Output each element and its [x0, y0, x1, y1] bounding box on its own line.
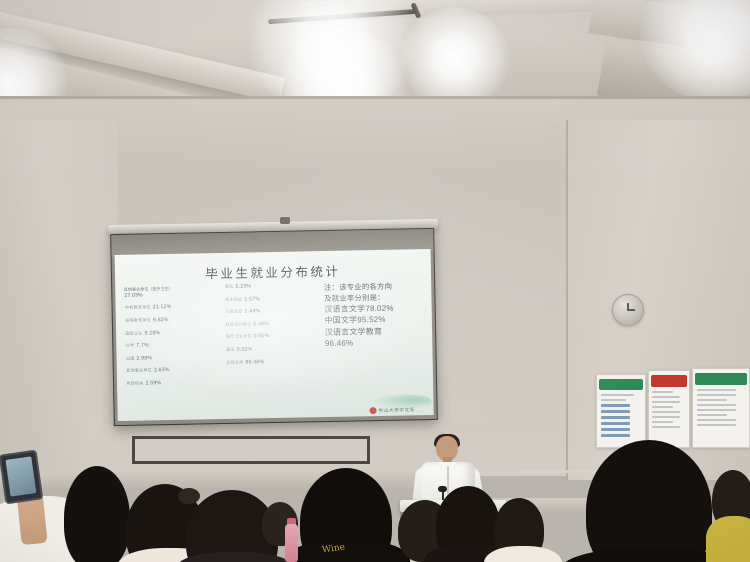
bullet-dot: ·	[122, 306, 123, 310]
poster-green-left	[596, 374, 646, 448]
bullet-dot: ·	[222, 335, 223, 339]
list-item: · 出国 2.98%	[123, 355, 223, 362]
list-item: · 军队 2.23%	[221, 283, 321, 290]
wall-corner-seam	[566, 120, 568, 480]
list-item: · 医疗卫生单位 0.05%	[222, 333, 322, 340]
slide-middle-column: · 军队 2.23% · 自主创业 1.57% · 三资企业 1.44%	[221, 283, 324, 417]
list-item: · 国有企业 9.28%	[122, 330, 222, 337]
list-item: · 中初教育单位 21.12%	[122, 304, 222, 311]
list-item: · 三资企业 1.44%	[222, 308, 322, 315]
left-wall	[0, 120, 118, 480]
slide-left-column: · 其他事业单位（医疗卫生） 27.03% · 中初教育单位 21.12% · …	[121, 285, 224, 419]
list-item: · 总就业率 96.46%	[223, 359, 323, 366]
screen-surface: 毕业生就业分布统计 · 其他事业单位（医疗卫生） 27.03% · 中初教育单位…	[110, 228, 438, 426]
wall-rail	[520, 470, 606, 473]
poster-red-middle	[648, 370, 690, 448]
list-item: · 其他事业单位（医疗卫生） 27.03%	[121, 285, 222, 301]
presentation-slide: 毕业生就业分布统计 · 其他事业单位（医疗卫生） 27.03% · 中初教育单位…	[115, 249, 434, 421]
clock-minute-hand	[627, 309, 635, 311]
bullet-dot: ·	[222, 323, 223, 327]
phone-screen[interactable]	[5, 456, 36, 496]
slide-logo: 中山大学中文系	[369, 394, 431, 415]
hair-clip-icon	[178, 488, 200, 504]
water-bottle	[285, 524, 298, 562]
poster-header-bar	[599, 379, 643, 391]
bullet-dot: ·	[122, 331, 123, 335]
screen-mount-knob	[280, 217, 290, 224]
poster-body-lines	[697, 389, 744, 442]
bullet-dot: ·	[121, 287, 122, 292]
logo-seal-icon	[370, 407, 377, 414]
bullet-dot: ·	[223, 348, 224, 352]
lecture-hall-photo: 毕业生就业分布统计 · 其他事业单位（医疗卫生） 27.03% · 中初教育单位…	[0, 0, 750, 562]
bullet-dot: ·	[221, 285, 222, 289]
projection-screen: 毕业生就业分布统计 · 其他事业单位（医疗卫生） 27.03% · 中初教育单位…	[112, 222, 434, 422]
slide-title: 毕业生就业分布统计	[115, 259, 431, 284]
microphone-icon	[438, 486, 447, 492]
bullet-dot: ·	[123, 369, 124, 373]
list-item: · 基层 0.02%	[223, 346, 323, 353]
bullet-dot: ·	[223, 361, 224, 365]
poster-header-bar	[695, 373, 747, 385]
audience-person-shoulders	[706, 516, 750, 562]
note-line-6: 96.46%	[325, 336, 429, 349]
list-item: · 党政机关 2.59%	[123, 380, 223, 387]
wall-clock	[612, 294, 644, 326]
bullet-dot: ·	[222, 310, 223, 314]
whiteboard-frame	[132, 436, 370, 464]
audience-person-head	[64, 466, 130, 562]
wall-ceiling-joint	[0, 96, 750, 99]
list-item: · 自主创业 1.57%	[222, 296, 322, 303]
list-item: · 高等教育单位 9.82%	[122, 317, 222, 324]
list-item: · 升学 7.7%	[122, 342, 222, 349]
smartphone[interactable]	[0, 450, 43, 505]
poster-header-bar	[651, 375, 688, 387]
logo-text: 中山大学中文系	[379, 407, 415, 414]
bullet-dot: ·	[123, 357, 124, 361]
bullet-dot: ·	[122, 344, 123, 348]
list-item: · 科研设计单位 0.46%	[222, 321, 322, 328]
poster-body-lines	[601, 394, 641, 443]
slide-note: 注：该专业的各方向 及就业率分别是： 汉语言文学78.02% 中国文学95.52…	[324, 281, 429, 349]
bullet-dot: ·	[222, 298, 223, 302]
bullet-dot: ·	[123, 382, 124, 386]
list-item: · 其他事业单位 2.83%	[123, 367, 223, 374]
bullet-dot: ·	[122, 319, 123, 323]
poster-body-lines	[652, 391, 686, 443]
poster-green-right	[692, 368, 750, 448]
